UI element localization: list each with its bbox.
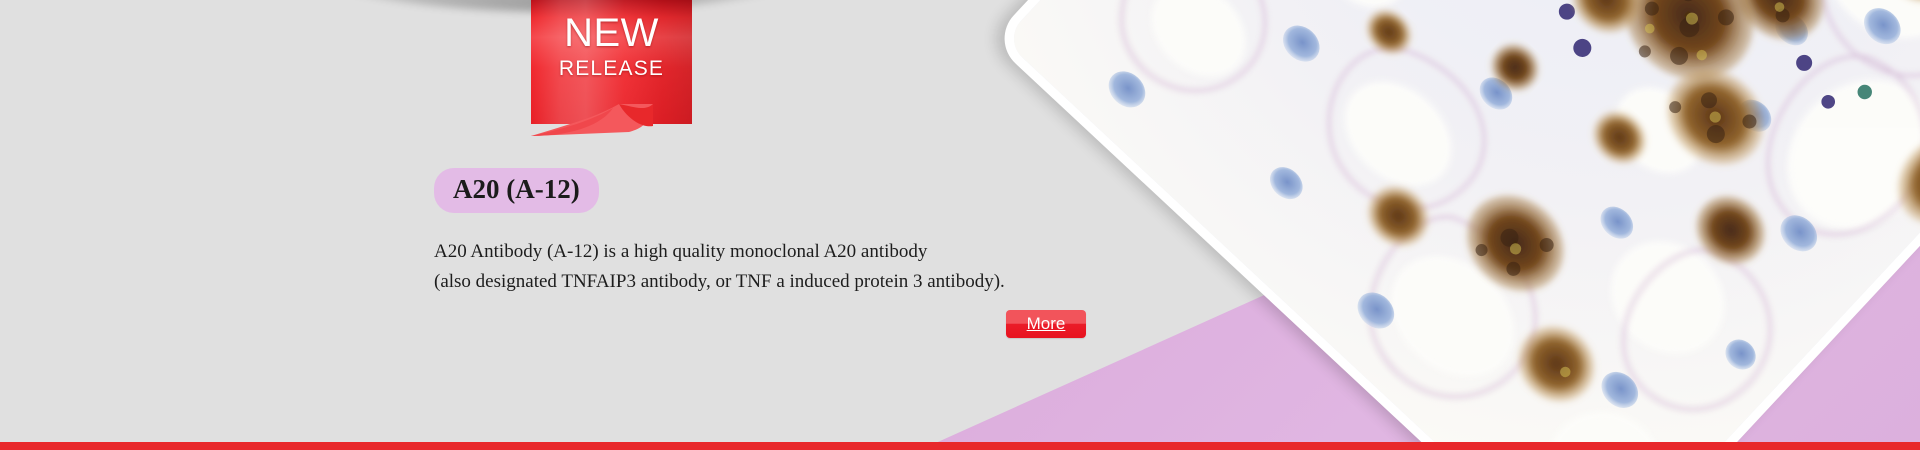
- cta-row: More: [434, 310, 1086, 338]
- copy-block: A20 (A-12) A20 Antibody (A-12) is a high…: [434, 168, 1194, 297]
- new-release-ribbon: NEW RELEASE: [531, 0, 692, 130]
- more-button[interactable]: More: [1006, 310, 1086, 338]
- description-line-1: A20 Antibody (A-12) is a high quality mo…: [434, 237, 1194, 267]
- ribbon-curl-icon: [523, 96, 701, 138]
- bottom-red-bar: [0, 442, 1920, 450]
- description-line-2: (also designated TNFAIP3 antibody, or TN…: [434, 267, 1194, 297]
- product-banner: NEW RELEASE A20 (A-12) A20 Antibody (A-1…: [0, 0, 1920, 450]
- product-title-pill: A20 (A-12): [434, 168, 599, 213]
- product-description: A20 Antibody (A-12) is a high quality mo…: [434, 237, 1194, 297]
